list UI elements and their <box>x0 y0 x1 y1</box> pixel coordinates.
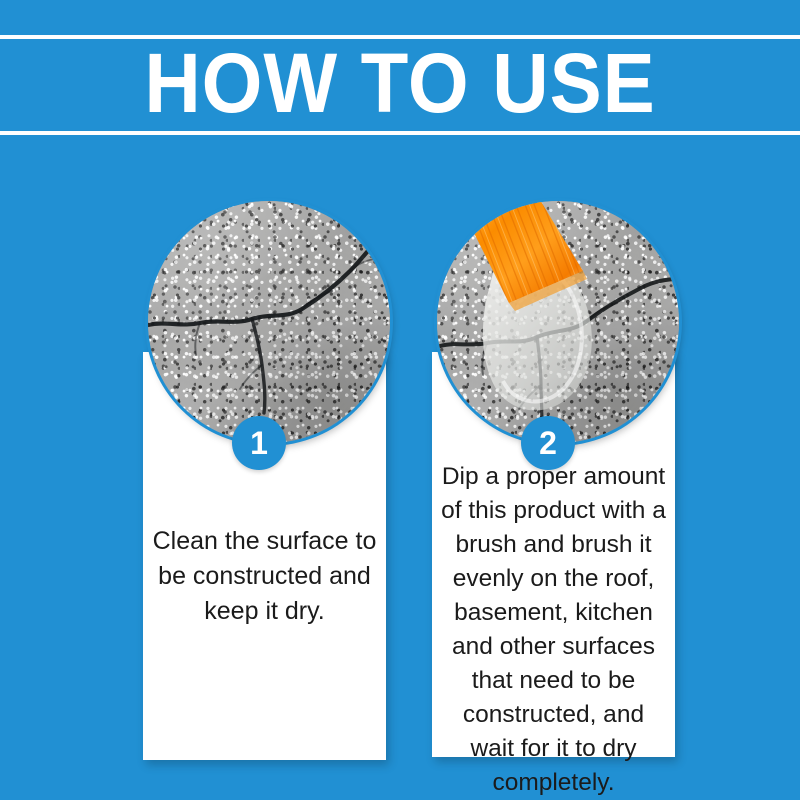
step-2-description: Dip a proper amount of this product with… <box>441 460 666 800</box>
step-2-badge: 2 <box>521 416 575 470</box>
how-to-use-infographic: HOW TO USE Clean the surface to be const… <box>0 0 800 800</box>
header-divider-bottom <box>0 131 800 135</box>
paint-brush-icon <box>437 201 679 443</box>
header: HOW TO USE <box>0 0 800 160</box>
page-title: HOW TO USE <box>28 38 772 128</box>
step-1-image <box>148 201 390 443</box>
crack-lines-icon <box>148 201 390 443</box>
step-1-description: Clean the surface to be constructed and … <box>152 524 377 629</box>
step-2-image <box>437 201 679 443</box>
step-1-badge: 1 <box>232 416 286 470</box>
